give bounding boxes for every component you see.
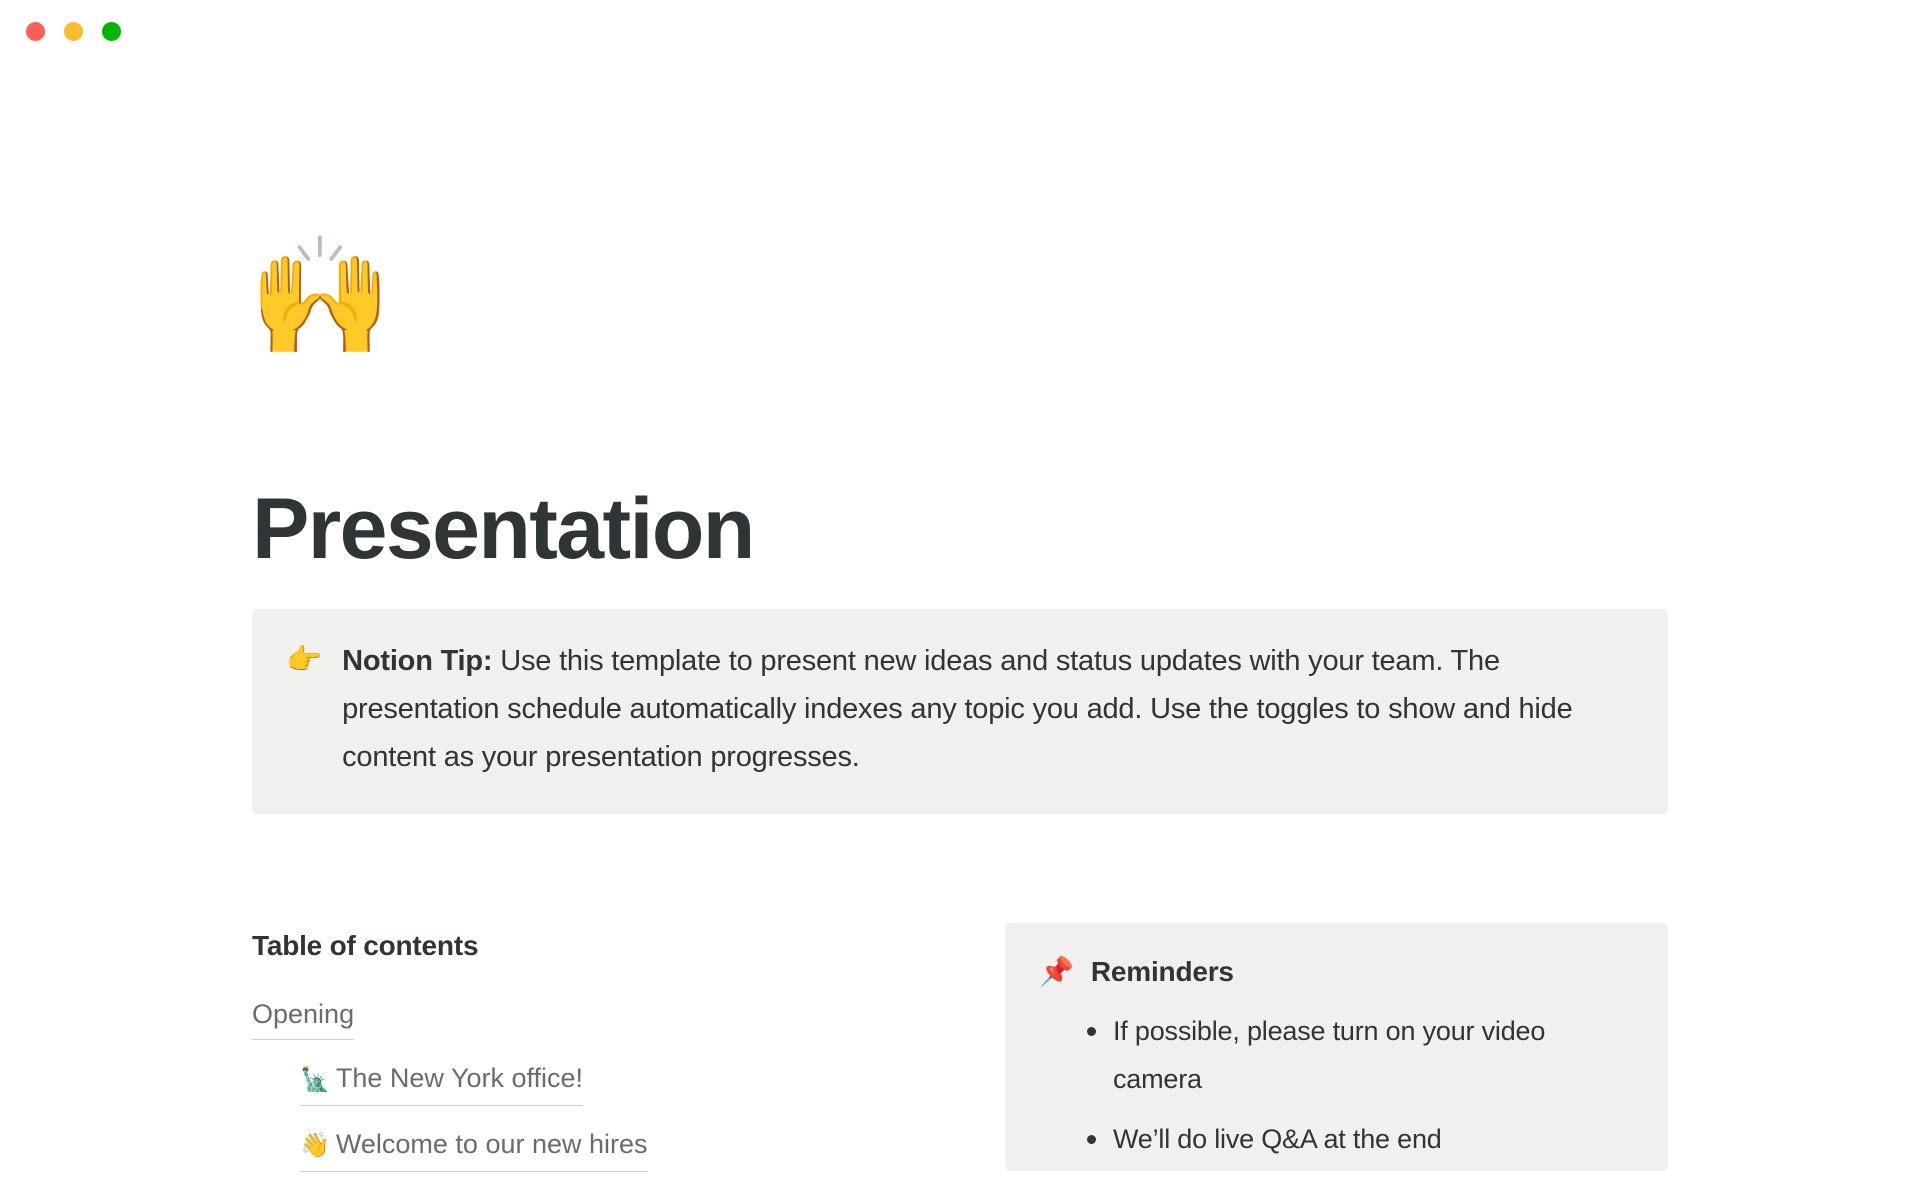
- notion-tip-callout[interactable]: 👉 Notion Tip: Use this template to prese…: [252, 609, 1668, 814]
- toc-link-wrapper[interactable]: 🗽The New York office!: [300, 1056, 583, 1106]
- window-titlebar: [0, 0, 1920, 60]
- toc-link-label[interactable]: Opening: [252, 992, 354, 1040]
- reminders-callout[interactable]: 📌 Reminders If possible, please turn on …: [1005, 923, 1668, 1171]
- traffic-lights: [26, 22, 121, 41]
- toc-link-wrapper[interactable]: 👋Welcome to our new hires: [300, 1122, 648, 1172]
- toc-link-label: Welcome to our new hires: [336, 1129, 648, 1159]
- toc-item-welcome-new-hires[interactable]: 👋Welcome to our new hires: [300, 1122, 648, 1172]
- toc-item-new-york-office[interactable]: 🗽The New York office!: [300, 1056, 583, 1106]
- toc-item-opening[interactable]: Opening: [252, 992, 354, 1040]
- waving-hand-emoji: 👋: [300, 1132, 330, 1159]
- raising-hands-emoji[interactable]: 🙌: [248, 238, 392, 354]
- minimize-window-button[interactable]: [64, 22, 83, 41]
- page-canvas: 🙌 Presentation 👉 Notion Tip: Use this te…: [0, 0, 1920, 1200]
- callout-body: Use this template to present new ideas a…: [342, 645, 1572, 773]
- toc-link-label: The New York office!: [336, 1063, 583, 1093]
- list-item: We’ll do live Q&A at the end: [1087, 1115, 1634, 1163]
- toc-heading: Table of contents: [252, 930, 952, 962]
- pointing-right-emoji: 👉: [286, 637, 322, 784]
- table-of-contents: Table of contents Opening 🗽The New York …: [252, 930, 952, 1188]
- list-item: If possible, please turn on your video c…: [1087, 1007, 1634, 1103]
- callout-text: Notion Tip: Use this template to present…: [342, 637, 1634, 784]
- reminders-header: 📌 Reminders: [1039, 953, 1634, 991]
- maximize-window-button[interactable]: [102, 22, 121, 41]
- reminders-list: If possible, please turn on your video c…: [1039, 1007, 1634, 1163]
- statue-of-liberty-emoji: 🗽: [300, 1066, 330, 1093]
- reminders-title: Reminders: [1091, 953, 1234, 991]
- pushpin-emoji: 📌: [1039, 953, 1074, 991]
- page-title[interactable]: Presentation: [252, 484, 754, 574]
- callout-label: Notion Tip:: [342, 645, 492, 677]
- close-window-button[interactable]: [26, 22, 45, 41]
